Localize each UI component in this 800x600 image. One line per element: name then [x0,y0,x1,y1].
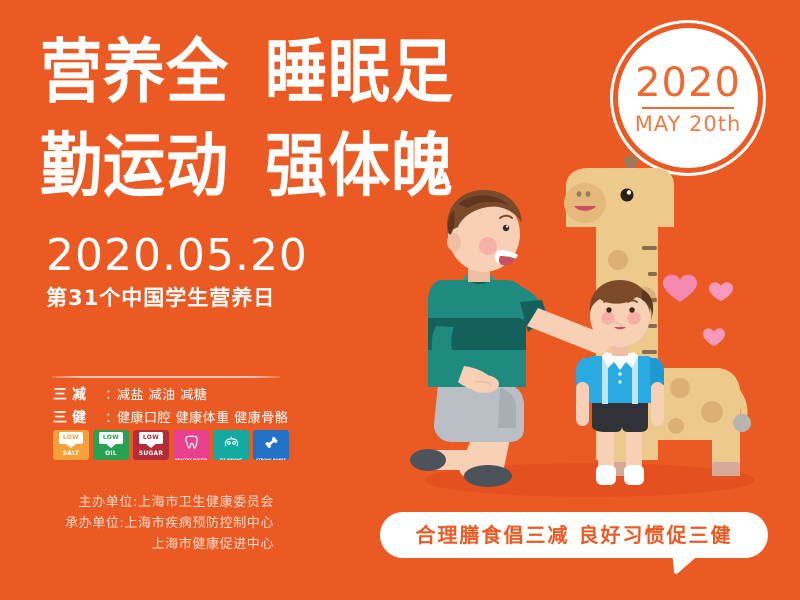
badge-healthy-mouth: HEALTHY MOUTH [173,430,209,460]
event-date: 2020.05.20 [46,232,308,280]
low-tag-icon: LOW [139,432,163,444]
slogan-key: 三减 [53,386,105,404]
slogan-list: 三减 ： 减盐 减油 减糖 三健 ： 健康口腔 健康体重 健康骨骼 [53,386,288,432]
section-divider [52,376,280,378]
badge-label: OIL [105,450,117,458]
badge-top-text: LOW [103,434,119,442]
low-tag-icon: LOW [99,432,123,444]
badge-top-text: LOW [63,434,79,442]
slogan-value: 健康口腔 健康体重 健康骨骼 [117,410,288,428]
slogan-key: 三健 [53,409,105,427]
badge-low-oil: LOW OIL [93,430,129,460]
date-badge-divider [642,107,734,109]
adult-figure [410,190,622,487]
slogan-colon: ： [105,409,117,427]
date-block: 2020.05.20 第31个中国学生营养日 [46,232,308,311]
badge-top-text: LOW [143,434,159,442]
slogan-value: 减盐 减油 减糖 [117,387,207,405]
badge-label: SUGAR [139,450,163,458]
date-badge-circle: 2020 MAY 20th [618,28,758,168]
badge-low-sugar: LOW SUGAR [133,430,169,460]
headline-line-1: 营养全 睡眠足 [40,34,560,102]
event-subtitle: 第31个中国学生营养日 [46,285,308,311]
badge-row: LOW SALT LOW OIL LOW SUGAR HEALTHY MOUTH [53,430,289,460]
date-badge-year: 2020 [635,62,741,104]
bone-icon [263,434,280,456]
slogan-row-three-reductions: 三减 ： 减盐 减油 减糖 [53,386,288,405]
badge-label: HEALTHY MOUTH [175,458,207,460]
slogan-row-three-healths: 三健 ： 健康口腔 健康体重 健康骨骼 [53,409,288,428]
headline-segment-exercise: 勤运动 [40,128,229,204]
tooth-icon [183,434,200,456]
badge-label: SALT [63,450,80,458]
badge-label: FIT WEIGHT [220,458,242,460]
illustration-family-height-measure [380,150,780,510]
slogan-bubble-tail [672,552,712,574]
weight-scale-icon [223,434,240,456]
headline-segment-sleep: 睡眠足 [265,34,454,110]
hearts [663,275,733,346]
headline-segment-nutrition: 营养全 [40,34,229,110]
credit-line-organizer: 承办单位:上海市疾病预防控制中心 [0,513,274,534]
credit-line-coorganizer: 上海市健康促进中心 [0,534,274,555]
credit-line-host: 主办单位:上海市卫生健康委员会 [0,492,274,513]
organizer-credits: 主办单位:上海市卫生健康委员会 承办单位:上海市疾病预防控制中心 上海市健康促进… [0,492,300,555]
slogan-bubble-text: 合理膳食倡三减 良好习惯促三健 [416,523,733,547]
date-badge-day: MAY 20th [635,113,742,135]
poster-canvas: 营养全 睡眠足 勤运动 强体魄 2020 MAY 20th 2020.05.20… [0,0,800,600]
badge-fit-weight: FIT WEIGHT [213,430,249,460]
badge-label: STRONG BONES [256,458,286,460]
badge-strong-bones: STRONG BONES [253,430,289,460]
badge-low-salt: LOW SALT [53,430,89,460]
low-tag-icon: LOW [59,432,83,444]
slogan-colon: ： [105,386,117,404]
